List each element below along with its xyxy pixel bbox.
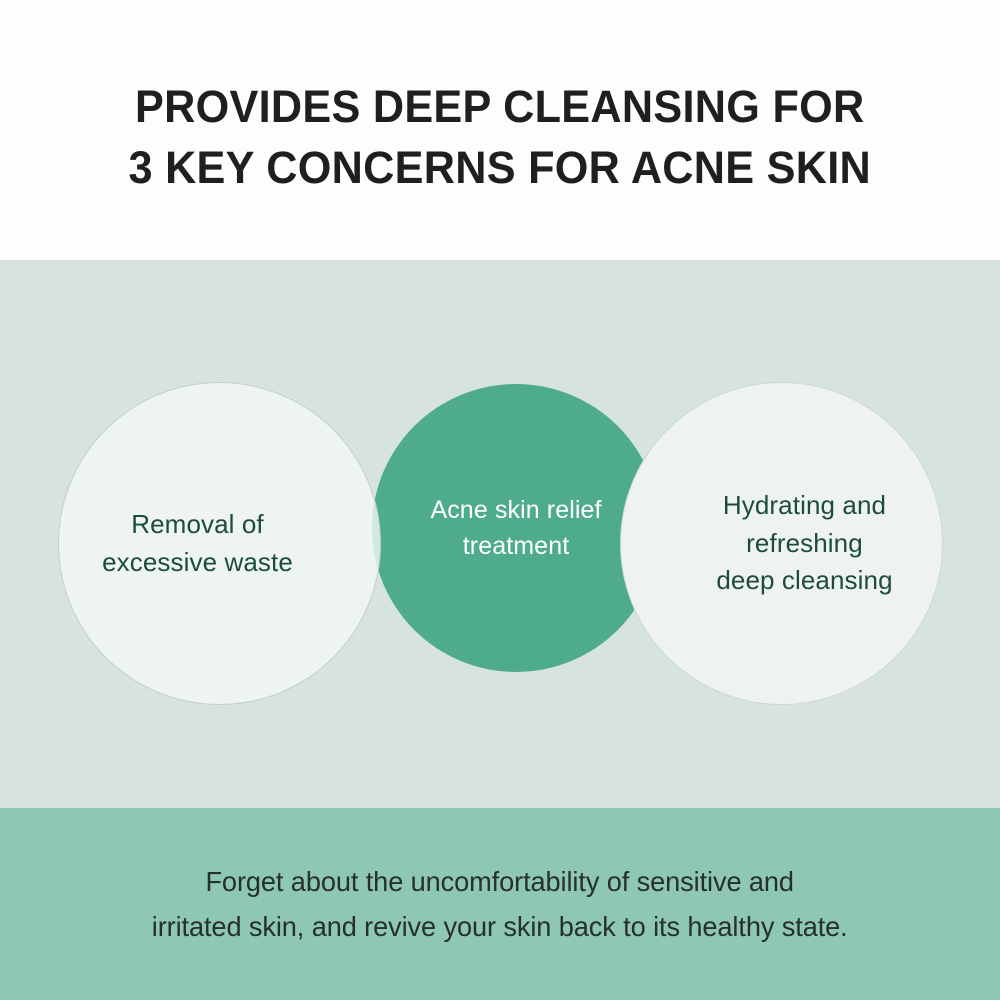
venn-right-line-2: refreshing: [746, 528, 863, 558]
venn-center-line-2: treatment: [463, 532, 570, 560]
headline-line-2: 3 KEY CONCERNS FOR ACNE SKIN: [129, 137, 872, 198]
venn-right-line-1: Hydrating and: [723, 490, 886, 520]
venn-left-line-2: excessive waste: [102, 547, 293, 577]
venn-circle-removal-of-excessive-waste: Removal of excessive waste: [58, 382, 381, 705]
page-title: PROVIDES DEEP CLEANSING FOR 3 KEY CONCER…: [129, 76, 872, 198]
venn-circle-center-label: Acne skin relief treatment: [430, 492, 601, 565]
venn-right-line-3: deep cleansing: [716, 565, 892, 595]
venn-diagram-band: Acne skin relief treatment Removal of ex…: [0, 260, 1000, 808]
venn-left-line-1: Removal of: [131, 509, 264, 539]
header-band: PROVIDES DEEP CLEANSING FOR 3 KEY CONCER…: [0, 0, 1000, 260]
headline-line-1: PROVIDES DEEP CLEANSING FOR: [129, 76, 872, 137]
footer-description: Forget about the uncomfortability of sen…: [152, 859, 848, 950]
venn-stage: Acne skin relief treatment Removal of ex…: [0, 260, 1000, 808]
venn-circle-acne-skin-relief-treatment: Acne skin relief treatment: [372, 384, 660, 672]
footer-line-1: Forget about the uncomfortability of sen…: [152, 859, 848, 904]
infographic-panel: PROVIDES DEEP CLEANSING FOR 3 KEY CONCER…: [0, 0, 1000, 1000]
venn-circle-hydrating-and-refreshing-deep-cleansing: Hydrating and refreshing deep cleansing: [620, 382, 943, 705]
footer-line-2: irritated skin, and revive your skin bac…: [152, 904, 848, 949]
footer-band: Forget about the uncomfortability of sen…: [0, 808, 1000, 1000]
venn-circle-left-label: Removal of excessive waste: [102, 506, 337, 581]
venn-center-line-1: Acne skin relief: [430, 496, 601, 524]
venn-circle-right-label: Hydrating and refreshing deep cleansing: [670, 487, 892, 600]
